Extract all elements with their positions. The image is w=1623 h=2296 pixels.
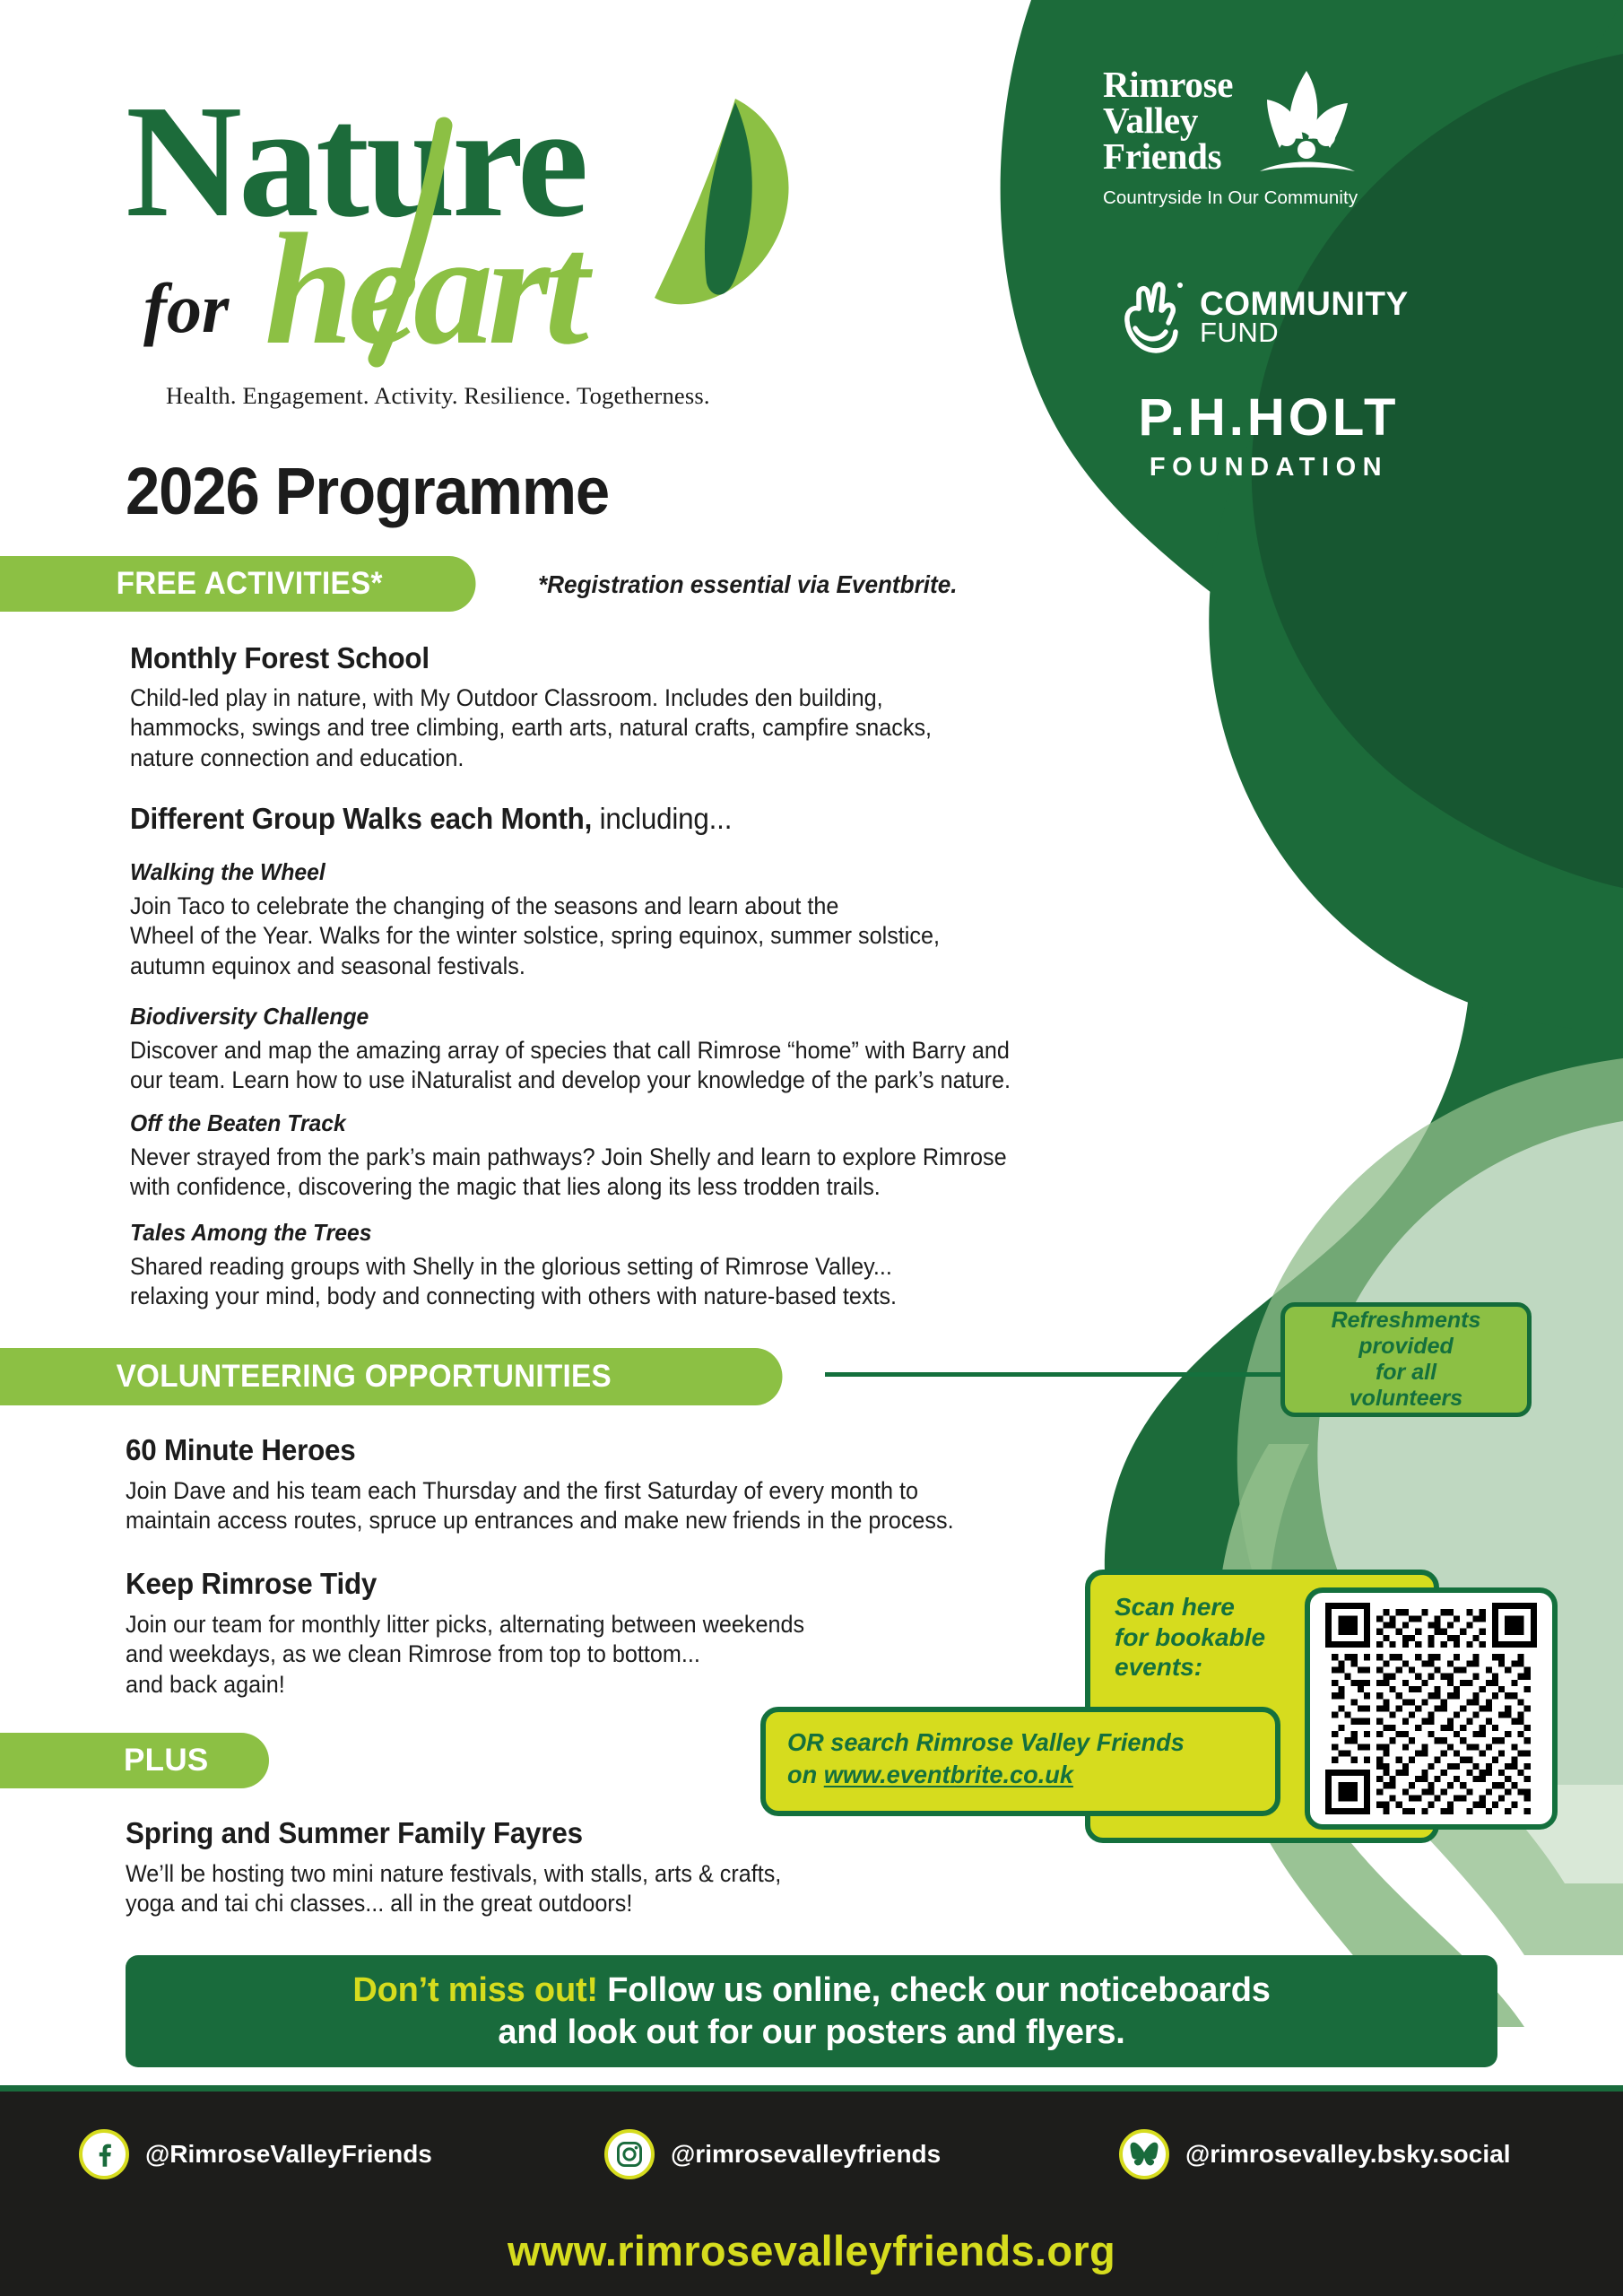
scan-here-text: Scan here for bookable events: [1115, 1592, 1321, 1683]
refreshments-callout-text: Refreshments provided for all volunteers [1332, 1308, 1481, 1412]
heading-monthly-forest-school: Monthly Forest School [130, 641, 430, 675]
body-monthly-forest-school: Child-led play in nature, with My Outdoo… [130, 683, 1323, 773]
subheading-walking-the-wheel: Walking the Wheel [130, 858, 325, 886]
website-url[interactable]: www.rimrosevalleyfriends.org [0, 2226, 1623, 2275]
instagram-icon [604, 2129, 655, 2179]
registration-note: *Registration essential via Eventbrite. [538, 570, 958, 599]
eventbrite-search-text: OR search Rimrose Valley Friends on www.… [787, 1726, 1185, 1791]
subheading-tales-among-the-trees: Tales Among the Trees [130, 1219, 372, 1247]
holt-foundation-word: FOUNDATION [1089, 453, 1448, 483]
community-fund-line-1: COMMUNITY [1200, 288, 1409, 319]
nature-for-heart-logo: Nature for heart [108, 63, 807, 422]
body-keep-rimrose-tidy: Join our team for monthly litter picks, … [126, 1610, 1080, 1700]
poster-root: Nature for heart Health. Engagement. Act… [0, 0, 1623, 2296]
social-link-instagram[interactable]: @rimrosevalleyfriends [604, 2129, 941, 2179]
rvf-crown-leaves-icon [1249, 67, 1364, 182]
holt-name: P.H.HOLT [1089, 387, 1448, 448]
social-link-facebook[interactable]: @RimroseValleyFriends [79, 2129, 432, 2179]
instagram-handle: @rimrosevalleyfriends [671, 2140, 941, 2169]
svg-text:for: for [143, 269, 230, 347]
body-tales-among-the-trees: Shared reading groups with Shelly in the… [130, 1252, 1391, 1312]
heading-family-fayres: Spring and Summer Family Fayres [126, 1816, 583, 1850]
section-banner-volunteering: VOLUNTEERING OPPORTUNITIES [0, 1348, 783, 1405]
ph-holt-foundation-logo: P.H.HOLT FOUNDATION [1089, 387, 1448, 483]
body-family-fayres: We’ll be hosting two mini nature festiva… [126, 1859, 1063, 1919]
call-to-action-banner: Don’t miss out! Follow us online, check … [126, 1955, 1497, 2067]
qr-code-icon [1325, 1603, 1537, 1814]
group-walks-light: including... [592, 802, 732, 835]
body-biodiversity-challenge: Discover and map the amazing array of sp… [130, 1036, 1391, 1096]
cta-line-1-rest: Follow us online, check our noticeboards [598, 1971, 1271, 2009]
section-banner-plus: PLUS [0, 1733, 269, 1788]
bluesky-handle: @rimrosevalley.bsky.social [1185, 2140, 1510, 2169]
social-links: @RimroseValleyFriends @rimrosevalleyfrie… [0, 2117, 1623, 2197]
heading-keep-rimrose-tidy: Keep Rimrose Tidy [126, 1567, 377, 1601]
crossed-fingers-icon [1119, 278, 1187, 355]
cta-line-1: Don’t miss out! Follow us online, check … [352, 1971, 1270, 2010]
bluesky-icon [1119, 2129, 1169, 2179]
body-walking-the-wheel: Join Taco to celebrate the changing of t… [130, 891, 1323, 981]
svg-text:heart: heart [265, 200, 593, 378]
rvf-line-1: Rimrose [1103, 67, 1233, 103]
cta-highlight: Don’t miss out! [352, 1971, 598, 2009]
rimrose-valley-friends-logo: Rimrose Valley Friends Countryside In Ou… [1103, 67, 1417, 209]
subheading-off-the-beaten-track: Off the Beaten Track [130, 1109, 346, 1137]
community-fund-line-2: FUND [1200, 319, 1409, 345]
rvf-line-2: Valley [1103, 103, 1233, 139]
heading-group-walks: Different Group Walks each Month, includ… [130, 802, 732, 836]
logo-tagline: Health. Engagement. Activity. Resilience… [166, 382, 710, 410]
eventbrite-link[interactable]: www.eventbrite.co.uk [824, 1761, 1073, 1788]
refreshments-connector-line [825, 1372, 1284, 1377]
body-60-minute-heroes: Join Dave and his team each Thursday and… [126, 1476, 1335, 1536]
facebook-icon [79, 2129, 129, 2179]
rvf-strapline: Countryside In Our Community [1103, 187, 1417, 209]
page-title: 2026 Programme [126, 453, 609, 529]
rvf-line-3: Friends [1103, 139, 1233, 175]
facebook-handle: @RimroseValleyFriends [145, 2140, 432, 2169]
heading-60-minute-heroes: 60 Minute Heroes [126, 1433, 356, 1467]
subheading-biodiversity-challenge: Biodiversity Challenge [130, 1003, 369, 1031]
group-walks-bold: Different Group Walks each Month, [130, 802, 592, 835]
footer: @RimroseValleyFriends @rimrosevalleyfrie… [0, 2085, 1623, 2296]
body-off-the-beaten-track: Never strayed from the park’s main pathw… [130, 1143, 1391, 1203]
qr-code-card[interactable] [1305, 1587, 1558, 1830]
cta-line-2: and look out for our posters and flyers. [498, 2013, 1124, 2052]
section-banner-free-activities: FREE ACTIVITIES* [0, 556, 476, 612]
community-fund-logo: COMMUNITY FUND [1119, 278, 1409, 355]
refreshments-callout: Refreshments provided for all volunteers [1280, 1302, 1532, 1417]
social-link-bluesky[interactable]: @rimrosevalley.bsky.social [1119, 2129, 1510, 2179]
